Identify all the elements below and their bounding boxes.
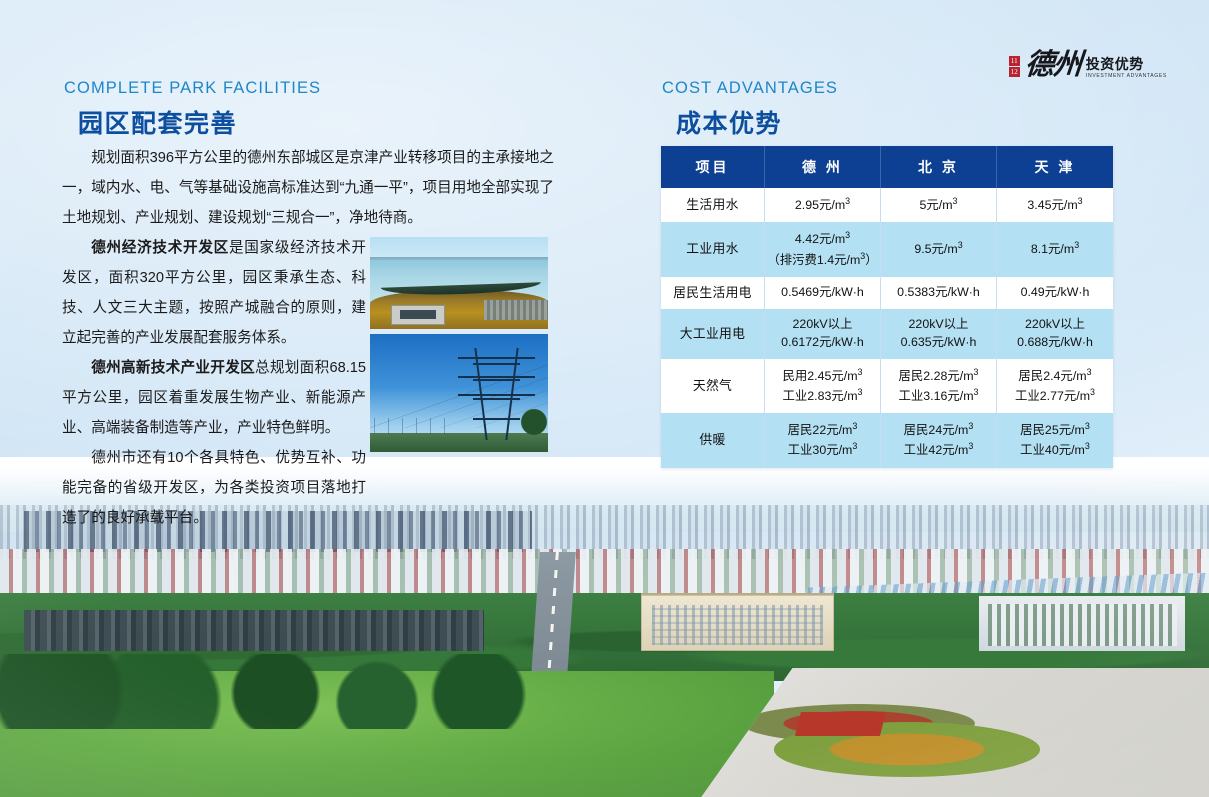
cell-line: 2.95元/m3: [767, 195, 878, 215]
table-row: 生活用水2.95元/m35元/m33.45元/m3: [661, 188, 1113, 222]
section-title-en: COMPLETE PARK FACILITIES: [64, 79, 321, 98]
brochure-page: 11 12 德州 投资优势 INVESTMENT ADVANTAGES COMP…: [0, 0, 1209, 797]
column-header-beijing: 北 京: [881, 146, 997, 188]
paragraph-2-lead: 德州经济技术开发区: [91, 240, 229, 256]
pylon-arm-2: [458, 376, 536, 378]
paragraph-1: 规划面积396平方公里的德州东部城区是京津产业转移项目的主承接地之一，域内水、电…: [62, 143, 554, 233]
dezhou-logo: 11 12 德州 投资优势 INVESTMENT ADVANTAGES: [1009, 52, 1165, 80]
cell-tianjin: 3.45元/m3: [997, 188, 1113, 222]
cell-beijing: 9.5元/m3: [881, 222, 997, 276]
paragraph-2: 德州经济技术开发区是国家级经济技术开发区，面积320平方公里，园区秉承生态、科技…: [62, 233, 366, 353]
row-label: 居民生活用电: [661, 277, 765, 310]
row-label: 大工业用电: [661, 309, 765, 359]
cell-tianjin: 8.1元/m3: [997, 222, 1113, 276]
panorama-old-town-roofs: [24, 610, 483, 651]
table-row: 天然气民用2.45元/m3工业2.83元/m3居民2.28元/m3工业3.16元…: [661, 359, 1113, 413]
logo-badge: 11 12: [1009, 56, 1020, 77]
cost-comparison-table: 项目 德 州 北 京 天 津 生活用水2.95元/m35元/m33.45元/m3…: [661, 146, 1113, 468]
cell-line: 0.49元/kW·h: [999, 284, 1111, 302]
cell-line: 民用2.45元/m3: [767, 366, 878, 386]
logo-badge-bottom: 12: [1009, 67, 1020, 77]
cell-dezhou: 220kV以上0.6172元/kW·h: [765, 309, 881, 359]
cell-line: 0.5469元/kW·h: [767, 284, 878, 302]
logo-text-block: 投资优势 INVESTMENT ADVANTAGES: [1086, 57, 1165, 79]
table-head: 项目 德 州 北 京 天 津: [661, 146, 1113, 188]
cell-beijing: 居民24元/m3工业42元/m3: [881, 413, 997, 467]
panorama-foreground-trees: [0, 654, 725, 729]
pylon-cross-2: [473, 379, 519, 381]
cell-line: 0.635元/kW·h: [883, 334, 994, 352]
panorama-government-building: [641, 593, 834, 651]
pylon-distant-towers: [374, 418, 456, 435]
panorama-sports-court: [795, 712, 886, 736]
column-header-item: 项目: [661, 146, 765, 188]
cell-line: 工业40元/m3: [999, 440, 1111, 460]
logo-badge-top: 11: [1009, 56, 1020, 66]
cell-line: 3.45元/m3: [999, 195, 1111, 215]
section-title-cn: 成本优势: [676, 104, 838, 140]
column-header-dezhou: 德 州: [765, 146, 881, 188]
cell-line: 220kV以上: [999, 316, 1111, 334]
section-title-cn: 园区配套完善: [78, 104, 321, 140]
logo-calligraphy: 德州: [1023, 52, 1081, 80]
pylon-arm-3: [458, 394, 536, 396]
cell-line: 9.5元/m3: [883, 239, 994, 259]
table-row: 供暖居民22元/m3工业30元/m3居民24元/m3工业42元/m3居民25元/…: [661, 413, 1113, 467]
row-label: 天然气: [661, 359, 765, 413]
reservoir-pump-house: [391, 305, 444, 325]
cell-line: 居民2.28元/m3: [883, 366, 994, 386]
logo-chinese-title: 投资优势: [1086, 57, 1165, 72]
logo-english-title: INVESTMENT ADVANTAGES: [1086, 73, 1167, 79]
cell-line: 工业2.83元/m3: [767, 386, 878, 406]
cell-line: 8.1元/m3: [999, 239, 1111, 259]
row-label: 工业用水: [661, 222, 765, 276]
cell-line: 居民24元/m3: [883, 420, 994, 440]
cell-beijing: 0.5383元/kW·h: [881, 277, 997, 310]
reservoir-fence: [484, 300, 548, 320]
section-title-en: COST ADVANTAGES: [662, 79, 838, 98]
cell-line: 居民2.4元/m3: [999, 366, 1111, 386]
cell-beijing: 居民2.28元/m3工业3.16元/m3: [881, 359, 997, 413]
cell-line: 工业2.77元/m3: [999, 386, 1111, 406]
cell-line: 居民22元/m3: [767, 420, 878, 440]
cell-line: 居民25元/m3: [999, 420, 1111, 440]
cell-line: 5元/m3: [883, 195, 994, 215]
cell-line: 4.42元/m3: [767, 229, 878, 249]
transmission-tower-icon: [473, 348, 519, 440]
panorama-civic-hall: [979, 596, 1185, 650]
cell-dezhou: 0.5469元/kW·h: [765, 277, 881, 310]
pylon-cross-4: [473, 418, 519, 420]
cell-line: 220kV以上: [883, 316, 994, 334]
table-row: 工业用水4.42元/m3（排污费1.4元/m3）9.5元/m38.1元/m3: [661, 222, 1113, 276]
table-row: 大工业用电220kV以上0.6172元/kW·h220kV以上0.635元/kW…: [661, 309, 1113, 359]
reservoir-photo: [370, 237, 548, 329]
paragraph-3: 德州高新技术产业开发区总规划面积68.15平方公里，园区着重发展生物产业、新能源…: [62, 353, 366, 443]
section-heading-park-facilities: COMPLETE PARK FACILITIES 园区配套完善: [64, 79, 321, 140]
cell-dezhou: 民用2.45元/m3工业2.83元/m3: [765, 359, 881, 413]
cell-beijing: 5元/m3: [881, 188, 997, 222]
cell-line: （排污费1.4元/m3）: [767, 250, 878, 270]
pylon-arm-1: [458, 357, 536, 359]
row-label: 供暖: [661, 413, 765, 467]
column-header-tianjin: 天 津: [997, 146, 1113, 188]
cell-line: 工业42元/m3: [883, 440, 994, 460]
table-header-row: 项目 德 州 北 京 天 津: [661, 146, 1113, 188]
section-heading-cost-advantages: COST ADVANTAGES 成本优势: [662, 79, 838, 140]
row-label: 生活用水: [661, 188, 765, 222]
cell-line: 0.688元/kW·h: [999, 334, 1111, 352]
cell-dezhou: 2.95元/m3: [765, 188, 881, 222]
cell-tianjin: 220kV以上0.688元/kW·h: [997, 309, 1113, 359]
paragraph-3-lead: 德州高新技术产业开发区: [91, 360, 255, 376]
table-row: 居民生活用电0.5469元/kW·h0.5383元/kW·h0.49元/kW·h: [661, 277, 1113, 310]
cell-tianjin: 居民2.4元/m3工业2.77元/m3: [997, 359, 1113, 413]
pylon-trees: [520, 398, 548, 438]
cell-dezhou: 4.42元/m3（排污费1.4元/m3）: [765, 222, 881, 276]
cell-line: 工业3.16元/m3: [883, 386, 994, 406]
pylon-cross-1: [473, 363, 519, 365]
cell-dezhou: 居民22元/m3工业30元/m3: [765, 413, 881, 467]
cell-tianjin: 居民25元/m3工业40元/m3: [997, 413, 1113, 467]
cell-line: 220kV以上: [767, 316, 878, 334]
paragraph-4-text: 德州市还有10个各具特色、优势互补、功能完备的省级开发区，为各类投资项目落地打造…: [62, 450, 366, 526]
cell-line: 0.5383元/kW·h: [883, 284, 994, 302]
paragraph-1-text: 规划面积396平方公里的德州东部城区是京津产业转移项目的主承接地之一，域内水、电…: [62, 150, 554, 226]
cell-line: 0.6172元/kW·h: [767, 334, 878, 352]
power-pylon-photo: [370, 334, 548, 452]
cell-tianjin: 0.49元/kW·h: [997, 277, 1113, 310]
cell-beijing: 220kV以上0.635元/kW·h: [881, 309, 997, 359]
pylon-cross-3: [473, 398, 519, 400]
paragraph-4: 德州市还有10个各具特色、优势互补、功能完备的省级开发区，为各类投资项目落地打造…: [62, 443, 366, 533]
cell-line: 工业30元/m3: [767, 440, 878, 460]
table-body: 生活用水2.95元/m35元/m33.45元/m3工业用水4.42元/m3（排污…: [661, 188, 1113, 467]
